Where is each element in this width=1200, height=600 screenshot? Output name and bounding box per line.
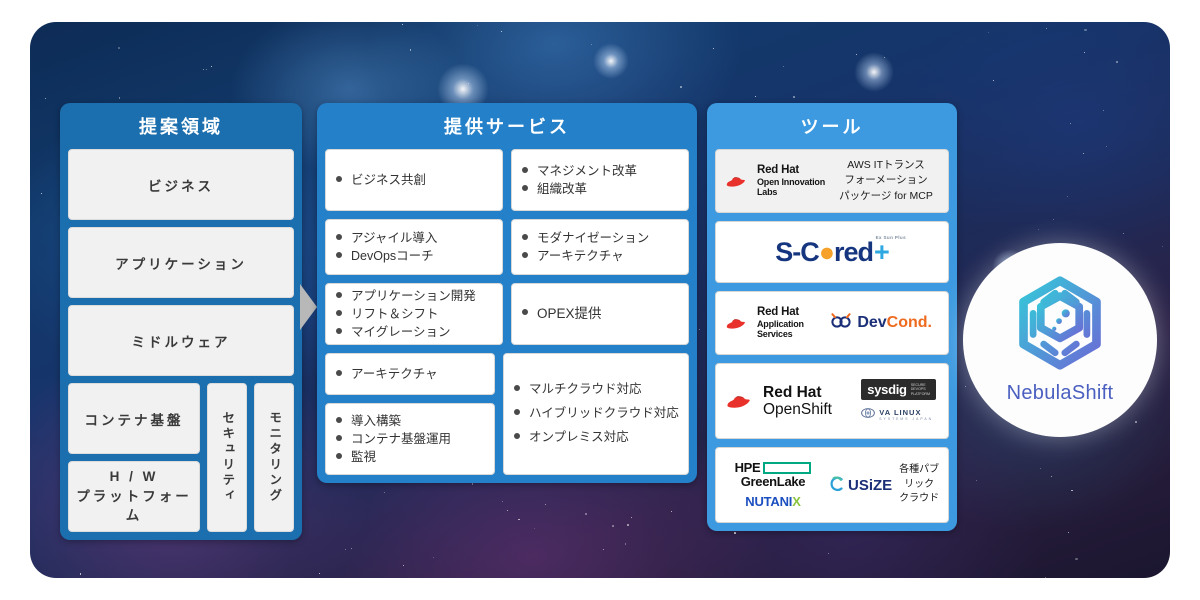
redhat-openshift-logo: Red Hat OpenShift [724,384,861,419]
sysdig-logo-name: sysdig [867,382,906,397]
nebulashift-hexagon-icon [1012,275,1108,376]
valinux-globe-icon [861,405,875,423]
aws-text-line2: フォーメーション [832,173,940,189]
propose-split-group: コンテナ基盤 H / W プラットフォーム セキュリティ モニタリング [68,383,294,532]
service-card-3-left[interactable]: アプリケーション開発 リフト＆シフト マイグレーション [325,283,503,345]
scred-logo-name: S-C●red [775,237,873,268]
list-item: 導入構築 [336,412,490,430]
list-item: マネジメント改革 [522,162,684,180]
list-item: アーキテクチャ [522,247,684,265]
service-group-3: アプリケーション開発 リフト＆シフト マイグレーション OPEX提供 [325,283,689,345]
column-tools-title: ツール [707,103,957,149]
redhat-fedora-icon [724,316,750,331]
service-card-4-left-stack: アーキテクチャ 導入構築 コンテナ基盤運用 監視 [325,353,495,475]
redhat-logo-sub: Open Innovation Labs [757,177,832,197]
openshift-logo-name: Red Hat [763,384,832,401]
valinux-logo-sub: SYSTEMS JAPAN [879,417,933,421]
nutanix-logo: NUTANIX [724,494,822,509]
service-card-2-left[interactable]: アジャイル導入 DevOpsコーチ [325,219,503,275]
bullet-icon [336,310,342,316]
bullet-icon [336,435,342,441]
public-cloud-line1: 各種パブリック [898,463,940,492]
list-item: 組織改革 [522,180,684,198]
propose-row-application[interactable]: アプリケーション [68,227,294,298]
service-card-1-right[interactable]: マネジメント改革 組織改革 [511,149,689,211]
bullet-icon [336,234,342,240]
bullet-icon [522,309,528,315]
valinux-logo-name: VA LINUX [879,408,933,417]
propose-row-hw-platform[interactable]: H / W プラットフォーム [68,461,200,532]
brand-name: NebulaShift [1007,382,1114,405]
brand-badge: NebulaShift [963,243,1157,437]
bullet-icon [522,234,528,240]
propose-hw-line1: H / W [69,467,199,487]
propose-vertical-monitoring[interactable]: モニタリング [254,383,294,532]
service-group-4: アーキテクチャ 導入構築 コンテナ基盤運用 監視 マルチクラウド対応 ハイブリッ… [325,353,689,475]
hpe-logo-sub: GreenLake [724,475,822,489]
aws-transformation-text: AWS ITトランス フォーメーション パッケージ for MCP [832,158,940,205]
bullet-icon [522,185,528,191]
hpe-bar-icon [763,462,811,474]
tool-card-redhat-devcond[interactable]: Red Hat Application Services DevCond. [715,291,949,355]
list-item: オンプレミス対応 [514,426,684,450]
list-item: 監視 [336,448,490,466]
tool-card-hpe-usize-nutanix[interactable]: HPE GreenLake NUTANIX USiZE 各種パブリック クラウド [715,447,949,523]
column-service: 提供サービス ビジネス共創 マネジメント改革 組織改革 アジャイル導入 DevO… [317,103,697,483]
usize-logo: USiZE [822,475,898,496]
bullet-icon [336,292,342,298]
sysdig-logo-tag: SECUREDEVOPSPLATFORM [911,383,930,396]
bullet-icon [514,385,520,391]
list-item: モダナイゼーション [522,229,684,247]
diagram-canvas: 提案領域 ビジネス アプリケーション ミドルウェア コンテナ基盤 H / W プ… [0,0,1200,600]
column-propose-title: 提案領域 [60,103,302,149]
devcond-logo: DevCond. [830,313,940,333]
service-card-4-left-bottom[interactable]: 導入構築 コンテナ基盤運用 監視 [325,403,495,475]
nutanix-logo-name: NUTANI [745,494,792,509]
usize-logo-name: USiZE [848,477,892,494]
redhat-logo-sub: Application Services [757,319,830,339]
bullet-icon [336,252,342,258]
redhat-fedora-icon [724,392,756,411]
tool-card-openshift-sysdig-valinux[interactable]: Red Hat OpenShift sysdig SECUREDEVOPSPLA… [715,363,949,439]
list-item: マイグレーション [336,323,498,341]
devcond-mark-icon [830,313,852,333]
bullet-icon [336,453,342,459]
sysdig-logo: sysdig SECUREDEVOPSPLATFORM [861,379,936,400]
list-item: アジャイル導入 [336,229,498,247]
list-item: アーキテクチャ [336,365,490,383]
list-item: DevOpsコーチ [336,247,498,265]
column-service-title: 提供サービス [317,103,697,149]
bullet-icon [336,370,342,376]
redhat-logo-name: Red Hat [757,306,830,319]
service-group-1: ビジネス共創 マネジメント改革 組織改革 [325,149,689,211]
service-card-3-right[interactable]: OPEX提供 [511,283,689,345]
tool-card-scred[interactable]: Ex Sun Plus S-C●red+ [715,221,949,283]
list-item: マルチクラウド対応 [514,378,684,402]
propose-row-container[interactable]: コンテナ基盤 [68,383,200,454]
list-item: ビジネス共創 [336,171,498,189]
column-tools: ツール Red Hat Open Innovation Labs AWS ITト… [707,103,957,531]
propose-row-middleware[interactable]: ミドルウェア [68,305,294,376]
service-card-1-left[interactable]: ビジネス共創 [325,149,503,211]
bullet-icon [514,409,520,415]
tool-card-redhat-oil[interactable]: Red Hat Open Innovation Labs AWS ITトランス … [715,149,949,213]
scred-logo: Ex Sun Plus S-C●red+ [724,237,940,268]
bullet-icon [522,252,528,258]
redhat-application-services-logo: Red Hat Application Services [724,306,830,339]
bullet-icon [514,433,520,439]
redhat-open-innovation-logo: Red Hat Open Innovation Labs [724,164,832,197]
list-item: コンテナ基盤運用 [336,430,490,448]
public-cloud-line2: クラウド [898,492,940,507]
bullet-icon [336,176,342,182]
bullet-icon [336,417,342,423]
list-item: アプリケーション開発 [336,287,498,305]
redhat-fedora-icon [724,174,750,189]
service-group-2: アジャイル導入 DevOpsコーチ モダナイゼーション アーキテクチャ [325,219,689,275]
flow-arrow-icon [300,284,317,330]
service-card-4-right[interactable]: マルチクラウド対応 ハイブリッドクラウド対応 オンプレミス対応 [503,353,689,475]
list-item: OPEX提供 [522,304,684,324]
propose-vertical-security[interactable]: セキュリティ [207,383,247,532]
column-propose: 提案領域 ビジネス アプリケーション ミドルウェア コンテナ基盤 H / W プ… [60,103,302,540]
list-item: リフト＆シフト [336,305,498,323]
usize-swirl-icon [828,475,845,496]
nutanix-x-icon: X [792,494,800,509]
service-card-4-left-top[interactable]: アーキテクチャ [325,353,495,395]
list-item: ハイブリッドクラウド対応 [514,402,684,426]
hpe-nutanix-group: HPE GreenLake NUTANIX [724,461,822,509]
aws-text-line3: パッケージ for MCP [832,189,940,205]
aws-text-line1: AWS ITトランス [832,158,940,174]
scred-logo-tiny: Ex Sun Plus [876,235,906,240]
sysdig-valinux-group: sysdig SECUREDEVOPSPLATFORM VA LINUX SYS… [861,379,940,423]
hpe-logo-name: HPE [735,460,761,475]
scred-plus-icon: + [874,237,889,268]
valinux-logo: VA LINUX SYSTEMS JAPAN [861,405,936,423]
propose-row-business[interactable]: ビジネス [68,149,294,220]
public-cloud-text: 各種パブリック クラウド [898,463,940,507]
bullet-icon [336,328,342,334]
service-card-2-right[interactable]: モダナイゼーション アーキテクチャ [511,219,689,275]
propose-hw-line2: プラットフォーム [69,487,199,526]
bullet-icon [522,167,528,173]
hpe-greenlake-logo: HPE GreenLake [724,461,822,488]
redhat-logo-name: Red Hat [757,164,832,177]
openshift-logo-sub: OpenShift [763,401,832,418]
devcond-logo-name: DevCond. [857,314,932,332]
